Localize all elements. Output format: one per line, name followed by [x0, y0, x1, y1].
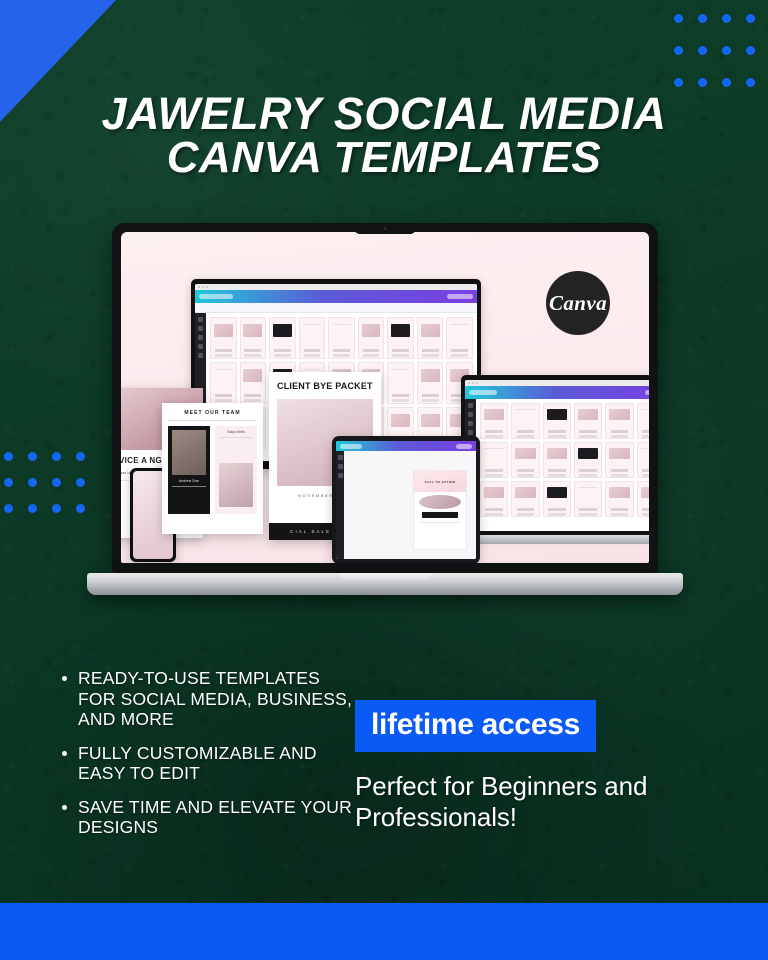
rail-item-icon: [338, 473, 343, 478]
canva-side-rail: [336, 451, 344, 559]
list-item-label: SAVE TIME AND ELEVATE YOUR DESIGNS: [78, 797, 362, 838]
title-line-secondary: CANVA TEMPLATES: [0, 136, 768, 180]
decorative-dot: [0, 496, 20, 520]
canva-workspace: [465, 399, 649, 531]
canva-app-window: [465, 380, 649, 531]
document-cta-button: [422, 512, 458, 517]
page-title: JAWELRY SOCIAL MEDIA CANVA TEMPLATES: [0, 92, 768, 180]
template-thumbnail: [480, 442, 508, 478]
rail-item-icon: [338, 455, 343, 460]
decorative-dot: [44, 470, 68, 494]
template-thumbnail: [511, 403, 539, 439]
canva-logo-text: Canva: [549, 291, 607, 316]
template-thumbnail: [446, 317, 473, 359]
decorative-dot: [738, 70, 762, 94]
team-member-secondary: Katya Smith: [215, 426, 257, 514]
decorative-dot: [44, 496, 68, 520]
nav-pill: [199, 294, 233, 299]
template-thumbnail: [543, 442, 571, 478]
promo-subtitle: Perfect for Beginners and Professionals!: [355, 771, 685, 833]
rail-item-icon: [468, 421, 473, 426]
nav-pill: [469, 390, 497, 395]
list-item: READY-TO-USE TEMPLATES FOR SOCIAL MEDIA,…: [62, 668, 362, 730]
template-thumbnail: [269, 317, 296, 359]
chrome-dot-icon: [476, 382, 478, 384]
tablet-canvas-area: CALL TO ACTION: [344, 451, 476, 559]
mockup-tablet: CALL TO ACTION: [332, 436, 480, 563]
bullet-dot-icon: [62, 805, 67, 810]
canva-logo-badge: Canva: [546, 271, 610, 335]
template-thumbnail: [328, 317, 355, 359]
list-item: FULLY CUSTOMIZABLE AND EASY TO EDIT: [62, 743, 362, 784]
title-line-primary: JAWELRY SOCIAL MEDIA: [0, 92, 768, 136]
dot-grid-top-right: [666, 6, 762, 102]
template-thumbnail: [480, 403, 508, 439]
nav-pill: [645, 390, 649, 395]
rail-item-icon: [468, 403, 473, 408]
promo-block: lifetime access Perfect for Beginners an…: [355, 700, 685, 833]
poster-canvas: JAWELRY SOCIAL MEDIA CANVA TEMPLATES: [0, 0, 768, 960]
mockup-card-meet-team: MEET OUR TEAM Andrew Doe Katya Smith: [162, 403, 263, 534]
chrome-dot-icon: [206, 286, 208, 288]
mockup-laptop-secondary-base: [453, 535, 649, 544]
chrome-dot-icon: [472, 382, 474, 384]
list-item: SAVE TIME AND ELEVATE YOUR DESIGNS: [62, 797, 362, 838]
template-thumbnail: [480, 481, 508, 517]
team-member-name: Katya Smith: [219, 430, 253, 434]
laptop-camera-notch: [354, 223, 416, 234]
decorative-dot: [20, 470, 44, 494]
template-thumbnail: [637, 481, 649, 517]
decorative-dot: [68, 470, 92, 494]
template-thumbnail: [637, 442, 649, 478]
bullet-dot-icon: [62, 751, 67, 756]
template-thumbnail: [605, 442, 633, 478]
laptop-base: [87, 573, 683, 595]
canva-top-navigation: [336, 441, 476, 451]
chrome-dot-icon: [202, 286, 204, 288]
list-item-label: READY-TO-USE TEMPLATES FOR SOCIAL MEDIA,…: [78, 668, 362, 730]
card-title: MEET OUR TEAM: [168, 410, 257, 421]
template-thumbnail: [543, 481, 571, 517]
decorative-dot: [714, 38, 738, 62]
template-thumbnail: [358, 317, 385, 359]
mockup-laptop-secondary: [461, 375, 649, 535]
feature-list: READY-TO-USE TEMPLATES FOR SOCIAL MEDIA,…: [62, 668, 362, 851]
decorative-dot: [690, 70, 714, 94]
team-member-photo: [219, 463, 253, 507]
laptop-lid: VICE A NG GU ness Name H MEET OUR TEAM A…: [112, 223, 658, 573]
laptop-screen: VICE A NG GU ness Name H MEET OUR TEAM A…: [121, 232, 649, 563]
card-title: CLIENT BYE PACKET: [277, 381, 373, 391]
chrome-dot-icon: [468, 382, 470, 384]
template-thumbnail: [210, 362, 237, 404]
template-thumbnail: [637, 403, 649, 439]
team-member-primary: Andrew Doe: [168, 426, 210, 514]
template-thumbnail: [417, 317, 444, 359]
decorative-dot: [0, 470, 20, 494]
template-thumbnail: [417, 362, 444, 404]
rail-item-icon: [198, 344, 203, 349]
rail-item-icon: [198, 335, 203, 340]
bottom-accent-bar: [0, 903, 768, 960]
decorative-dot: [690, 6, 714, 30]
template-thumbnail: [574, 442, 602, 478]
team-member-name: Andrew Doe: [172, 479, 206, 483]
decorative-dot: [68, 496, 92, 520]
rail-item-icon: [468, 412, 473, 417]
document-hero: CALL TO ACTION: [414, 471, 467, 491]
template-thumbnail: [240, 317, 267, 359]
decorative-dot: [714, 6, 738, 30]
decorative-dot: [738, 6, 762, 30]
nav-pill: [340, 444, 362, 449]
template-thumbnail: [543, 403, 571, 439]
dot-grid-left: [0, 444, 92, 522]
template-thumbnail: [511, 481, 539, 517]
rail-item-icon: [338, 464, 343, 469]
rail-item-icon: [198, 317, 203, 322]
document-image: [419, 495, 461, 509]
rail-item-icon: [198, 353, 203, 358]
laptop-mockup: VICE A NG GU ness Name H MEET OUR TEAM A…: [112, 223, 658, 595]
team-member-photo: [172, 430, 206, 475]
rail-item-icon: [468, 430, 473, 435]
canva-sub-toolbar: [195, 303, 477, 313]
nav-pill: [456, 444, 472, 449]
list-item-label: FULLY CUSTOMIZABLE AND EASY TO EDIT: [78, 743, 362, 784]
nav-pill: [447, 294, 473, 299]
template-thumbnail: [240, 362, 267, 404]
template-thumbnail: [574, 481, 602, 517]
decorative-dot: [20, 444, 44, 468]
team-member-row: Andrew Doe Katya Smith: [168, 426, 257, 514]
decorative-dot: [666, 38, 690, 62]
template-thumbnail: [574, 403, 602, 439]
decorative-dot: [0, 444, 20, 468]
template-thumbnail-grid: [476, 399, 649, 531]
canva-top-navigation: [195, 290, 477, 303]
document-body-lines: [420, 522, 460, 545]
laptop-base-notch: [339, 573, 431, 580]
tablet-document: CALL TO ACTION: [413, 470, 468, 550]
canva-workspace: CALL TO ACTION: [336, 451, 476, 559]
template-thumbnail: [299, 317, 326, 359]
team-member-bio: [219, 437, 253, 459]
decorative-dot: [68, 444, 92, 468]
decorative-dot: [714, 70, 738, 94]
bullet-dot-icon: [62, 676, 67, 681]
rail-item-icon: [198, 326, 203, 331]
decorative-dot: [666, 6, 690, 30]
decorative-dot: [20, 496, 44, 520]
team-member-bio: [172, 486, 206, 512]
template-thumbnail: [511, 442, 539, 478]
template-thumbnail: [387, 362, 414, 404]
decorative-dot: [666, 70, 690, 94]
chrome-dot-icon: [198, 286, 200, 288]
canva-top-navigation: [465, 386, 649, 399]
template-thumbnail: [387, 317, 414, 359]
decorative-dot: [738, 38, 762, 62]
decorative-dot: [44, 444, 68, 468]
decorative-dot: [690, 38, 714, 62]
canva-app-window: CALL TO ACTION: [336, 441, 476, 559]
template-thumbnail: [605, 403, 633, 439]
template-thumbnail: [605, 481, 633, 517]
document-title: CALL TO ACTION: [425, 480, 456, 484]
lifetime-access-badge: lifetime access: [355, 700, 596, 752]
template-thumbnail: [210, 317, 237, 359]
